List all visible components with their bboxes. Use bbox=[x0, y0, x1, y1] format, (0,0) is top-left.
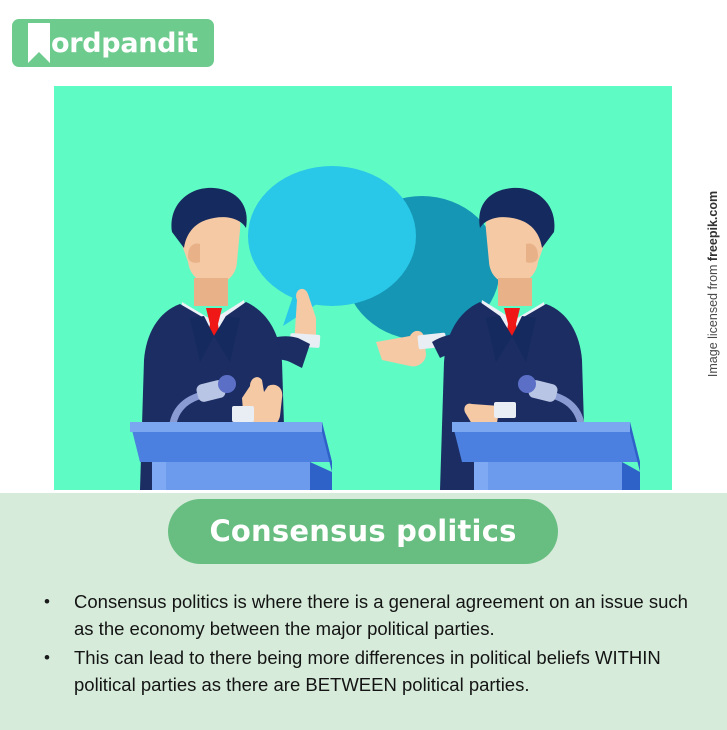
podium-left bbox=[130, 422, 332, 490]
list-item: • Consensus politics is where there is a… bbox=[40, 588, 690, 642]
site-logo[interactable]: ordpandit bbox=[12, 19, 214, 67]
bullet-marker-icon: • bbox=[40, 588, 74, 615]
podium-right bbox=[452, 422, 640, 490]
bookmark-icon bbox=[26, 23, 52, 63]
definition-list: • Consensus politics is where there is a… bbox=[40, 588, 690, 700]
debate-illustration bbox=[54, 86, 672, 490]
page-title-text: Consensus politics bbox=[209, 517, 516, 546]
image-credit-prefix: Image licensed from bbox=[706, 261, 720, 377]
list-item-text: Consensus politics is where there is a g… bbox=[74, 588, 690, 642]
image-credit-source: freepik.com bbox=[706, 191, 720, 261]
page-title: Consensus politics bbox=[168, 499, 558, 564]
bullet-marker-icon: • bbox=[40, 644, 74, 671]
debate-illustration-svg bbox=[54, 86, 672, 490]
logo-text: ordpandit bbox=[51, 30, 198, 57]
image-credit: Image licensed from freepik.com bbox=[701, 0, 725, 730]
list-item: • This can lead to there being more diff… bbox=[40, 644, 690, 698]
list-item-text: This can lead to there being more differ… bbox=[74, 644, 690, 698]
